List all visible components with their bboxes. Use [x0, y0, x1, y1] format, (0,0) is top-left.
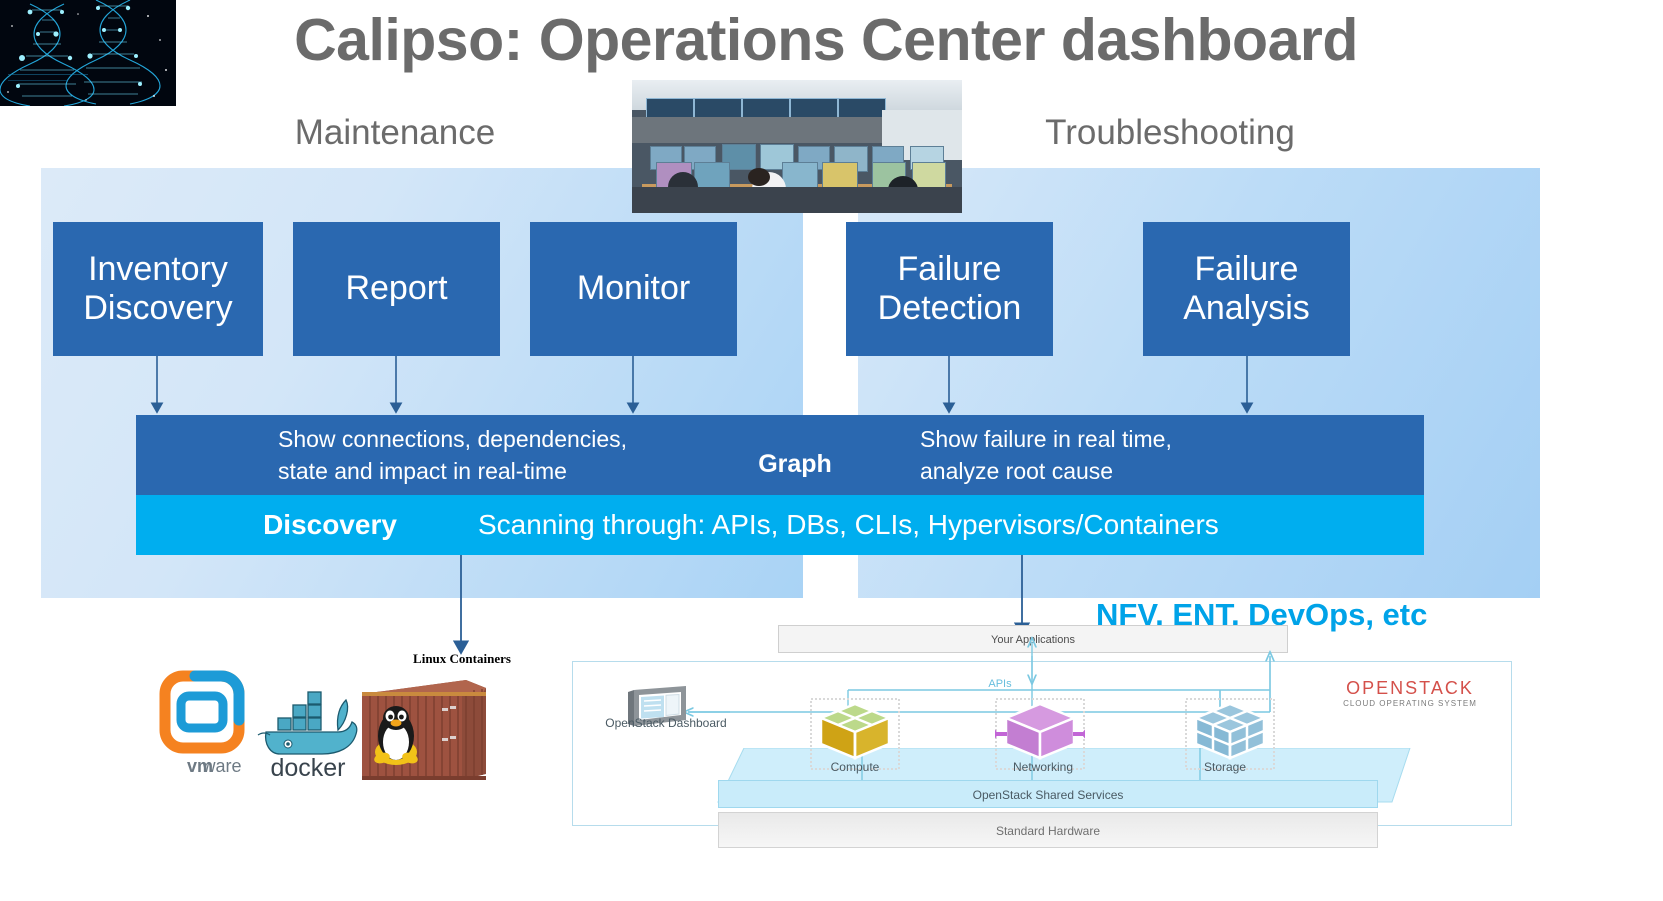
- section-heading-maintenance: Maintenance: [180, 108, 610, 158]
- page-title: Calipso: Operations Center dashboard: [176, 4, 1476, 76]
- operations-center-photo: [632, 80, 962, 213]
- docker-logo: docker: [252, 672, 364, 780]
- graph-right-line2: analyze root cause: [920, 455, 1320, 487]
- dna-logo-image: [0, 0, 176, 106]
- openstack-compute-label: Compute: [800, 760, 910, 774]
- graph-description-left: Show connections, dependencies, state an…: [278, 423, 698, 489]
- capability-label: Monitor: [577, 269, 690, 308]
- capability-label-line1: Failure: [878, 250, 1022, 289]
- linux-container-image: [358, 668, 488, 786]
- svg-text:ware: ware: [201, 756, 241, 776]
- openstack-your-applications-box: Your Applications: [778, 625, 1288, 653]
- capability-label-line1: Failure: [1183, 250, 1310, 289]
- openstack-dashboard-label: OpenStack Dashboard: [586, 716, 746, 730]
- graph-label: Graph: [700, 448, 890, 480]
- discovery-label: Discovery: [200, 503, 460, 547]
- openstack-standard-hardware-label: Standard Hardware: [719, 813, 1377, 849]
- capability-box-failure-analysis[interactable]: Failure Analysis: [1143, 222, 1350, 356]
- openstack-brand-tagline: CLOUD OPERATING SYSTEM: [1320, 698, 1500, 709]
- graph-left-line1: Show connections, dependencies,: [278, 423, 698, 455]
- capability-label-line2: Analysis: [1183, 289, 1310, 328]
- discovery-description: Scanning through: APIs, DBs, CLIs, Hyper…: [478, 503, 1428, 547]
- openstack-brand: OPENSTACK CLOUD OPERATING SYSTEM: [1320, 678, 1500, 709]
- vmware-logo: vm ware: [155, 670, 245, 780]
- openstack-shared-services-box: OpenStack Shared Services: [718, 780, 1378, 808]
- graph-left-line2: state and impact in real-time: [278, 455, 698, 487]
- capability-label-line1: Inventory: [83, 250, 232, 289]
- openstack-architecture-diagram: Your Applications: [570, 620, 1515, 901]
- svg-text:docker: docker: [270, 754, 345, 780]
- openstack-storage-label: Storage: [1170, 760, 1280, 774]
- openstack-apis-label: APIs: [970, 678, 1030, 690]
- openstack-brand-name: OPENSTACK: [1320, 678, 1500, 698]
- openstack-standard-hardware-box: Standard Hardware: [718, 812, 1378, 848]
- capability-box-report[interactable]: Report: [293, 222, 500, 356]
- openstack-networking-label: Networking: [978, 760, 1108, 774]
- arrow-discovery-to-platforms: [449, 555, 473, 665]
- capability-box-failure-detection[interactable]: Failure Detection: [846, 222, 1053, 356]
- capability-label: Report: [345, 269, 447, 308]
- openstack-shared-services-label: OpenStack Shared Services: [719, 781, 1377, 809]
- graph-description-right: Show failure in real time, analyze root …: [920, 423, 1320, 489]
- capability-box-inventory-discovery[interactable]: Inventory Discovery: [53, 222, 263, 356]
- section-heading-troubleshooting: Troubleshooting: [950, 108, 1390, 158]
- graph-right-line1: Show failure in real time,: [920, 423, 1320, 455]
- connector-arrows-group: [0, 350, 1663, 422]
- openstack-your-applications-label: Your Applications: [779, 626, 1287, 654]
- capability-label-line2: Discovery: [83, 289, 232, 328]
- capability-label-line2: Detection: [878, 289, 1022, 328]
- capability-box-monitor[interactable]: Monitor: [530, 222, 737, 356]
- linux-containers-caption: Linux Containers: [372, 650, 552, 668]
